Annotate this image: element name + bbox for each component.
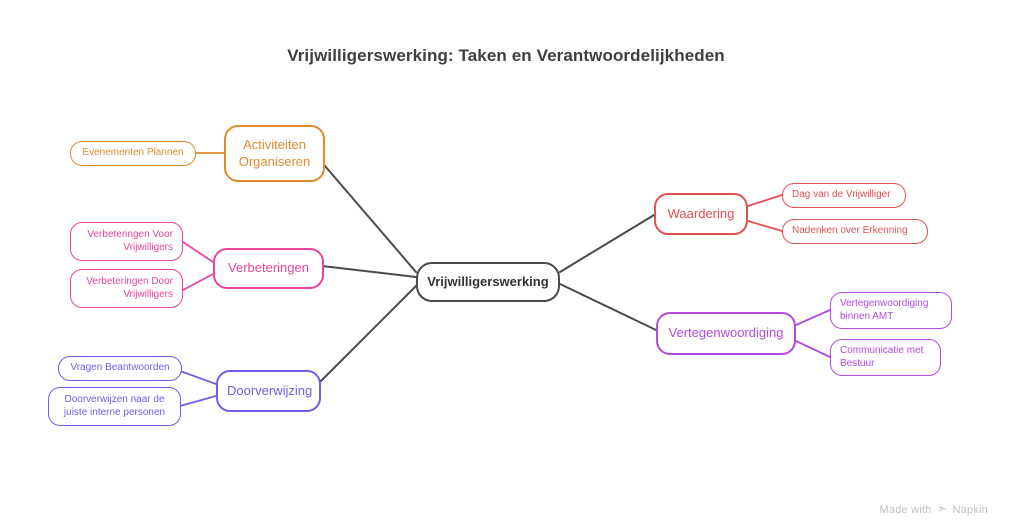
- leaf-label-evenementen-plannen: Evenementen Plannen: [71, 147, 195, 160]
- edge-verbeteringen-door: [183, 274, 213, 290]
- branch-label-doorverwijzing: Doorverwijzing: [218, 383, 319, 399]
- watermark-made-with-label: Made with: [880, 504, 932, 516]
- napkin-watermark: Made with ➣ Napkin: [880, 503, 988, 516]
- edge-waardering-dag: [748, 195, 782, 206]
- leaf-label-verbeteringen-door-vrijwilligers: Verbeteringen Door Vrijwilligers: [71, 276, 182, 301]
- edge-root-waardering: [560, 215, 654, 272]
- leaf-node-nadenken-over-erkenning[interactable]: Nadenken over Erkenning: [782, 219, 928, 244]
- edge-vertegenwoordiging-amt: [796, 310, 830, 325]
- leaf-node-communicatie-met-bestuur[interactable]: Communicatie met Bestuur: [830, 339, 941, 376]
- napkin-logo-icon: ➣: [936, 502, 947, 515]
- edge-root-activiteiten: [325, 166, 416, 272]
- edge-verbeteringen-voor: [183, 242, 213, 262]
- leaf-label-vragen-beantwoorden: Vragen Beantwoorden: [59, 362, 181, 375]
- branch-label-waardering: Waardering: [656, 206, 746, 222]
- edge-root-verbeteringen: [322, 266, 416, 277]
- branch-label-vertegenwoordiging: Vertegenwoordiging: [658, 325, 794, 341]
- leaf-label-nadenken-over-erkenning: Nadenken over Erkenning: [783, 225, 927, 238]
- edge-root-vertegenwoordiging: [560, 284, 656, 330]
- leaf-label-communicatie-met-bestuur: Communicatie met Bestuur: [831, 345, 940, 370]
- leaf-node-evenementen-plannen[interactable]: Evenementen Plannen: [70, 141, 196, 166]
- leaf-node-dag-van-de-vrijwilliger[interactable]: Dag van de Vrijwilliger: [782, 183, 906, 208]
- branch-node-verbeteringen[interactable]: Verbeteringen: [213, 248, 324, 289]
- leaf-label-doorverwijzen-interne-personen: Doorverwijzen naar de juiste interne per…: [49, 394, 180, 419]
- leaf-node-verbeteringen-voor-vrijwilligers[interactable]: Verbeteringen Voor Vrijwilligers: [70, 222, 183, 261]
- branch-node-activiteiten-organiseren[interactable]: Activiteiten Organiseren: [224, 125, 325, 182]
- leaf-node-doorverwijzen-interne-personen[interactable]: Doorverwijzen naar de juiste interne per…: [48, 387, 181, 426]
- branch-label-verbeteringen: Verbeteringen: [215, 260, 322, 276]
- mindmap-canvas: Vrijwilligerswerking: Taken en Verantwoo…: [0, 0, 1012, 528]
- branch-node-waardering[interactable]: Waardering: [654, 193, 748, 235]
- watermark-brand-label: Napkin: [953, 504, 988, 516]
- leaf-label-vertegenwoordiging-binnen-amt: Vertegenwoordiging binnen AMT: [831, 298, 951, 323]
- leaf-label-verbeteringen-voor-vrijwilligers: Verbeteringen Voor Vrijwilligers: [71, 229, 182, 254]
- root-node[interactable]: Vrijwilligerswerking: [416, 262, 560, 302]
- edge-waardering-erkenning: [748, 221, 782, 231]
- leaf-node-verbeteringen-door-vrijwilligers[interactable]: Verbeteringen Door Vrijwilligers: [70, 269, 183, 308]
- leaf-node-vertegenwoordiging-binnen-amt[interactable]: Vertegenwoordiging binnen AMT: [830, 292, 952, 329]
- edge-vertegenwoordiging-bestuur: [796, 341, 830, 357]
- edge-root-doorverwijzing: [321, 286, 416, 381]
- leaf-label-dag-van-de-vrijwilliger: Dag van de Vrijwilliger: [783, 189, 905, 202]
- branch-node-vertegenwoordiging[interactable]: Vertegenwoordiging: [656, 312, 796, 355]
- root-node-label: Vrijwilligerswerking: [418, 274, 558, 290]
- branch-node-doorverwijzing[interactable]: Doorverwijzing: [216, 370, 321, 412]
- branch-label-activiteiten-organiseren: Activiteiten Organiseren: [226, 137, 323, 170]
- leaf-node-vragen-beantwoorden[interactable]: Vragen Beantwoorden: [58, 356, 182, 381]
- edge-doorverwijzing-personen: [180, 396, 216, 406]
